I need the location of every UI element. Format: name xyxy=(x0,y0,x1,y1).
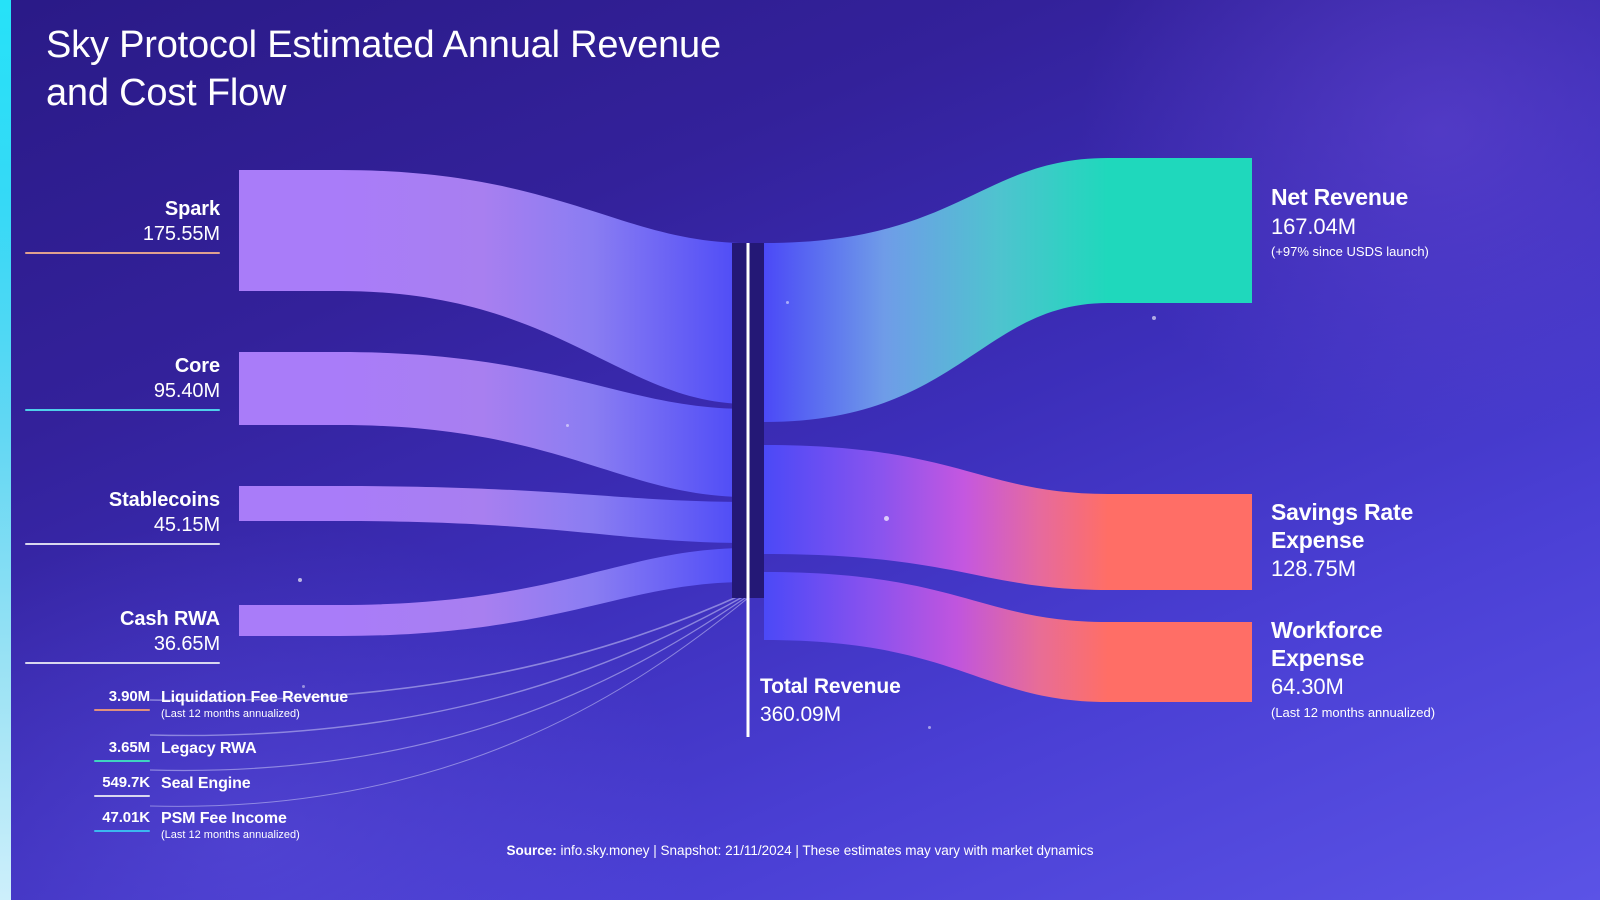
sankey-target-nodes xyxy=(1108,158,1252,702)
source-underline xyxy=(25,252,220,254)
source-label-core: Core 95.40M xyxy=(25,355,220,411)
footer-source-label: Source: xyxy=(506,843,556,858)
link-stablecoins-to-total xyxy=(339,486,748,543)
source-underline xyxy=(25,409,220,411)
target-value: 128.75M xyxy=(1271,555,1591,584)
left-edge-accent-stripe xyxy=(0,0,11,900)
minor-source-row: 3.65M Legacy RWA xyxy=(94,739,394,763)
source-label-stablecoins: Stablecoins 45.15M xyxy=(25,489,220,545)
target-name-line1: Savings Rate xyxy=(1271,499,1591,527)
source-label-spark: Spark 175.55M xyxy=(25,198,220,254)
infographic-canvas: Sky Protocol Estimated Annual Revenue an… xyxy=(0,0,1600,900)
source-underline xyxy=(25,543,220,545)
link-total-to-savingsrate xyxy=(764,445,1108,590)
sankey-center-node xyxy=(732,243,764,737)
minor-source-row: 47.01K PSM Fee Income (Last 12 months an… xyxy=(94,809,394,843)
target-note: (+97% since USDS launch) xyxy=(1271,244,1591,261)
footer-source-text: info.sky.money | Snapshot: 21/11/2024 | … xyxy=(557,843,1094,858)
node-cashrwa xyxy=(239,605,339,636)
page-title-line2: and Cost Flow xyxy=(46,70,926,118)
target-note: (Last 12 months annualized) xyxy=(1271,705,1591,722)
target-name-line1: Workforce xyxy=(1271,617,1591,645)
sankey-links-inflow xyxy=(339,170,748,636)
minor-source-value: 549.7K xyxy=(94,774,150,793)
minor-source-label: Legacy RWA xyxy=(161,739,394,758)
sankey-source-nodes xyxy=(239,170,339,636)
link-cashrwa-to-total xyxy=(339,548,748,636)
minor-source-label: Liquidation Fee Revenue xyxy=(161,688,394,707)
minor-sources-list: 3.90M Liquidation Fee Revenue (Last 12 m… xyxy=(94,688,394,854)
minor-source-underline xyxy=(94,795,150,797)
minor-source-note: (Last 12 months annualized) xyxy=(161,708,394,721)
target-value: 167.04M xyxy=(1271,213,1591,242)
page-title: Sky Protocol Estimated Annual Revenue an… xyxy=(46,22,926,117)
total-revenue-value: 360.09M xyxy=(760,701,901,728)
source-value: 95.40M xyxy=(25,379,220,404)
source-underline xyxy=(25,662,220,664)
minor-source-row: 3.90M Liquidation Fee Revenue (Last 12 m… xyxy=(94,688,394,728)
minor-source-underline xyxy=(94,760,150,762)
target-name-line2: Expense xyxy=(1271,645,1591,673)
minor-source-value: 47.01K xyxy=(94,809,150,828)
node-workforce xyxy=(1108,622,1252,702)
target-value: 64.30M xyxy=(1271,673,1591,702)
node-core xyxy=(239,352,339,425)
minor-source-underline xyxy=(94,830,150,832)
minor-source-label: PSM Fee Income xyxy=(161,809,394,828)
node-spark xyxy=(239,170,339,291)
minor-source-label: Seal Engine xyxy=(161,774,394,793)
source-name: Spark xyxy=(25,198,220,222)
source-value: 36.65M xyxy=(25,632,220,657)
source-label-cash-rwa: Cash RWA 36.65M xyxy=(25,608,220,664)
total-revenue-name: Total Revenue xyxy=(760,674,901,699)
minor-source-value: 3.90M xyxy=(94,688,150,707)
target-label-net-revenue: Net Revenue 167.04M (+97% since USDS lau… xyxy=(1271,184,1591,261)
minor-source-underline xyxy=(94,709,150,711)
node-net-revenue xyxy=(1108,158,1252,303)
footer-source-line: Source: info.sky.money | Snapshot: 21/11… xyxy=(0,843,1600,858)
source-value: 175.55M xyxy=(25,222,220,247)
target-label-workforce-expense: Workforce Expense 64.30M (Last 12 months… xyxy=(1271,617,1591,722)
source-value: 45.15M xyxy=(25,513,220,538)
source-name: Core xyxy=(25,355,220,379)
minor-source-row: 549.7K Seal Engine xyxy=(94,774,394,798)
node-stablecoins xyxy=(239,486,339,521)
total-revenue-label: Total Revenue 360.09M xyxy=(760,674,901,728)
sankey-links-outflow xyxy=(764,158,1108,702)
page-title-line1: Sky Protocol Estimated Annual Revenue xyxy=(46,22,926,70)
target-name-line2: Expense xyxy=(1271,527,1591,555)
link-total-to-netrevenue xyxy=(764,158,1108,422)
node-savings-rate xyxy=(1108,494,1252,590)
target-label-savings-rate-expense: Savings Rate Expense 128.75M xyxy=(1271,499,1591,584)
minor-source-value: 3.65M xyxy=(94,739,150,758)
source-name: Stablecoins xyxy=(25,489,220,513)
target-name: Net Revenue xyxy=(1271,184,1591,212)
minor-source-note: (Last 12 months annualized) xyxy=(161,829,394,842)
source-name: Cash RWA xyxy=(25,608,220,632)
